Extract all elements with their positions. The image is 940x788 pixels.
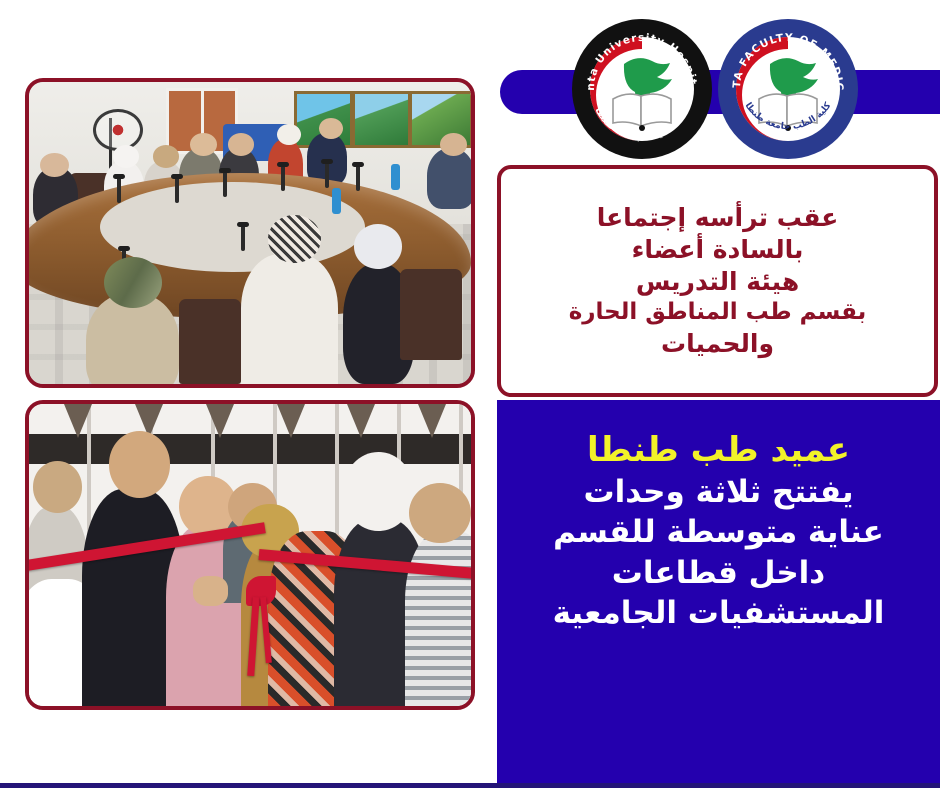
wall-painting [352, 91, 411, 148]
person-head-scarf [268, 215, 321, 263]
content-column: Tanta University Hospitals مستشفيات جامع… [497, 0, 940, 788]
water-bottle [391, 164, 400, 190]
announcement-line-3: عناية متوسطة للقسم [553, 512, 884, 552]
desk-microphone [175, 176, 179, 203]
bunting-flag [206, 404, 234, 438]
meeting-room-photo [25, 78, 475, 388]
bunting-flag [418, 404, 446, 438]
seated-person [427, 148, 471, 208]
person-head [277, 124, 301, 145]
desk-microphone [356, 164, 360, 191]
poster-root: Tanta University Hospitals مستشفيات جامع… [0, 0, 940, 788]
announcement-panel: عميد طب طنطا يفتتح ثلاثة وحدات عناية متو… [497, 400, 940, 788]
logo-row: Tanta University Hospitals مستشفيات جامع… [497, 8, 940, 168]
person-head-scarf [104, 257, 161, 308]
announcement-line-4: داخل قطاعات [612, 553, 825, 593]
office-chair [400, 269, 462, 360]
desk-microphone [325, 161, 329, 188]
ribbon-cutting-scene [29, 404, 471, 706]
headline-line-1: عقب ترأسه إجتماعا [597, 202, 839, 234]
headline-box: عقب ترأسه إجتماعا بالسادة أعضاء هيئة الت… [497, 165, 938, 397]
foreground-attendee [241, 254, 338, 384]
meeting-room-scene [29, 82, 471, 384]
tanta-faculty-of-medicine-logo: TANTA FACULTY OF MEDICINE كلية الطب جامع… [715, 16, 861, 162]
headline-line-2: بالسادة أعضاء [632, 234, 804, 266]
ribbon-cutting-photo [25, 400, 475, 710]
headline-line-3: هيئة التدريس [636, 266, 799, 298]
person-head [33, 461, 82, 512]
person-head [409, 483, 471, 543]
desk-microphone [117, 176, 121, 203]
person-head [40, 153, 69, 177]
scissors-hand [193, 576, 228, 606]
person-head [153, 145, 180, 168]
tanta-university-hospitals-logo: Tanta University Hospitals مستشفيات جامع… [569, 16, 715, 162]
headline-line-5: والحميات [661, 328, 774, 360]
bunting-flag [277, 404, 305, 438]
bunting-decoration [29, 404, 471, 452]
announcement-line-5: المستشفيات الجامعية [553, 593, 885, 633]
photo-column [0, 0, 497, 788]
desk-microphone [241, 224, 245, 251]
attendee-checked-shirt [405, 531, 471, 706]
water-bottle [332, 188, 341, 214]
bunting-flag [64, 404, 92, 438]
person-head [190, 133, 217, 156]
person-head [319, 118, 343, 139]
bunting-flag [347, 404, 375, 438]
person-head [109, 431, 171, 497]
announcement-line-1: عميد طب طنطا [587, 428, 850, 472]
footer-rule [0, 783, 940, 788]
headline-line-4: بقسم طب المناطق الحارة [569, 298, 867, 327]
person-head [440, 133, 467, 156]
announcement-line-2: يفتتح ثلاثة وحدات [583, 472, 853, 512]
desk-microphone [223, 170, 227, 197]
office-chair [179, 299, 241, 384]
person-head-hijab [343, 452, 414, 531]
desk-microphone [281, 164, 285, 191]
